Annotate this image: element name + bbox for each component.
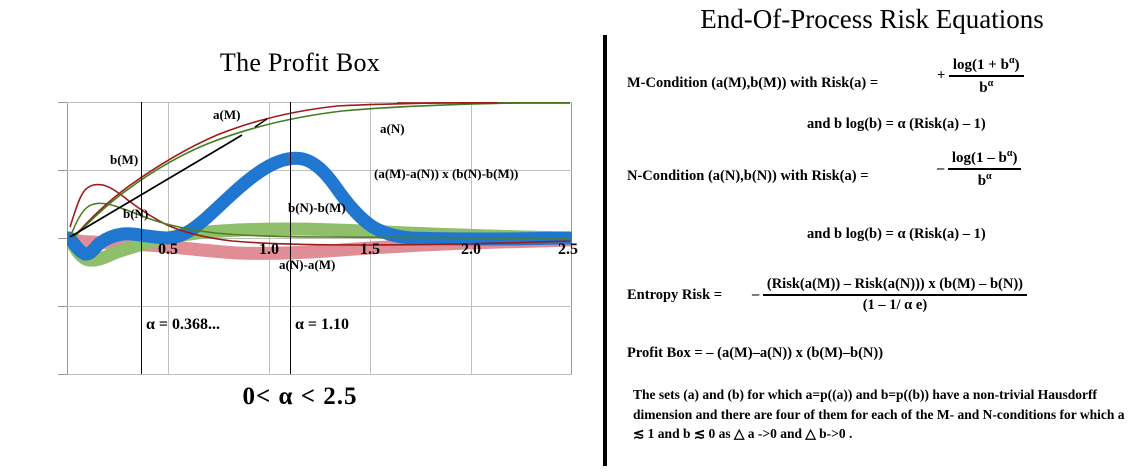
- n-num-close: ): [1012, 150, 1017, 166]
- label-a-n-minus-a-m: a(N)-a(M): [279, 257, 335, 273]
- m-num-text: log(1 + b: [953, 57, 1009, 73]
- y-tick-dash: [58, 238, 67, 239]
- risk-equations-panel: End-Of-Process Risk Equations M-Conditio…: [607, 0, 1143, 476]
- x-tick-2.0: 2.0: [461, 241, 481, 259]
- x-tick-1.0: 1.0: [259, 241, 279, 259]
- y-tick-dash: [58, 170, 67, 171]
- entropy-risk-lead: Entropy Risk =: [627, 287, 722, 304]
- n-condition-numerator: log(1 – bα): [948, 148, 1022, 168]
- n-condition-sign: –: [937, 160, 944, 176]
- m-condition-lead: M-Condition (a(M),b(M)) with Risk(a) =: [627, 75, 878, 92]
- page-title: The Profit Box: [0, 48, 600, 78]
- x-tick-0.5: 0.5: [158, 241, 178, 259]
- m-den-text: b: [979, 80, 987, 96]
- marker-line-alpha-110: [290, 102, 291, 374]
- label-profit-box-curve: (a(M)-a(N)) x (b(N)-b(M)): [374, 166, 518, 182]
- m-condition-second-line: and b log(b) = α (Risk(a) – 1): [807, 116, 986, 133]
- n-condition-fraction: log(1 – bα) bα: [948, 148, 1022, 190]
- alpha-range-caption: 0< α < 2.5: [0, 383, 600, 411]
- m-condition-fraction: log(1 + bα) bα: [949, 55, 1024, 97]
- n-den-exp: α: [986, 171, 992, 182]
- marker-line-alpha-0368: [141, 102, 142, 374]
- marker-label-alpha-110: α = 1.10: [295, 316, 349, 334]
- entropy-risk-denominator: (1 – 1/ α e): [763, 294, 1027, 314]
- y-tick-dash: [58, 374, 67, 375]
- y-tick-dash: [58, 306, 67, 307]
- n-num-text: log(1 – b: [952, 150, 1007, 166]
- y-tick-dash: [58, 102, 67, 103]
- m-den-exp: α: [988, 78, 994, 89]
- n-condition-lead: N-Condition (a(N),b(N)) with Risk(a) =: [627, 168, 868, 185]
- n-condition-second-line: and b log(b) = α (Risk(a) – 1): [807, 226, 986, 243]
- equations-title: End-Of-Process Risk Equations: [607, 4, 1137, 35]
- label-a-m: a(M): [213, 107, 240, 123]
- m-condition-numerator: log(1 + bα): [949, 55, 1024, 75]
- m-condition-denominator: bα: [949, 75, 1024, 97]
- n-condition-formula: – log(1 – bα) bα: [937, 148, 1021, 190]
- label-a-n: a(N): [380, 121, 405, 137]
- x-tick-2.5: 2.5: [558, 241, 578, 259]
- entropy-risk-sign: –: [752, 286, 759, 302]
- label-b-n: b(N): [123, 206, 148, 222]
- label-b-m: b(M): [110, 152, 138, 168]
- m-condition-sign: +: [937, 67, 945, 83]
- m-condition-formula: + log(1 + bα) bα: [937, 55, 1024, 97]
- x-tick-1.5: 1.5: [360, 241, 380, 259]
- n-den-text: b: [978, 173, 986, 189]
- marker-label-alpha-0368: α = 0.368...: [146, 316, 220, 334]
- gridline-neg100: [67, 374, 572, 375]
- entropy-risk-formula: – (Risk(a(M)) – Risk(a(N))) x (b(M) – b(…: [752, 276, 1027, 314]
- m-num-close: ): [1015, 57, 1020, 73]
- entropy-risk-numerator: (Risk(a(M)) – Risk(a(N))) x (b(M) – b(N)…: [763, 276, 1027, 294]
- n-condition-denominator: bα: [948, 168, 1022, 190]
- label-b-n-minus-b-m: b(N)-b(M): [288, 200, 346, 216]
- explanatory-paragraph: The sets (a) and (b) for which a=p((a)) …: [633, 385, 1133, 444]
- entropy-risk-fraction: (Risk(a(M)) – Risk(a(N))) x (b(M) – b(N)…: [763, 276, 1027, 314]
- profit-box-equation: Profit Box = – (a(M)–a(N)) x (b(M)–b(N)): [627, 345, 883, 362]
- profit-box-chart-panel: The Profit Box 100 50 0 -50 -100: [0, 0, 600, 476]
